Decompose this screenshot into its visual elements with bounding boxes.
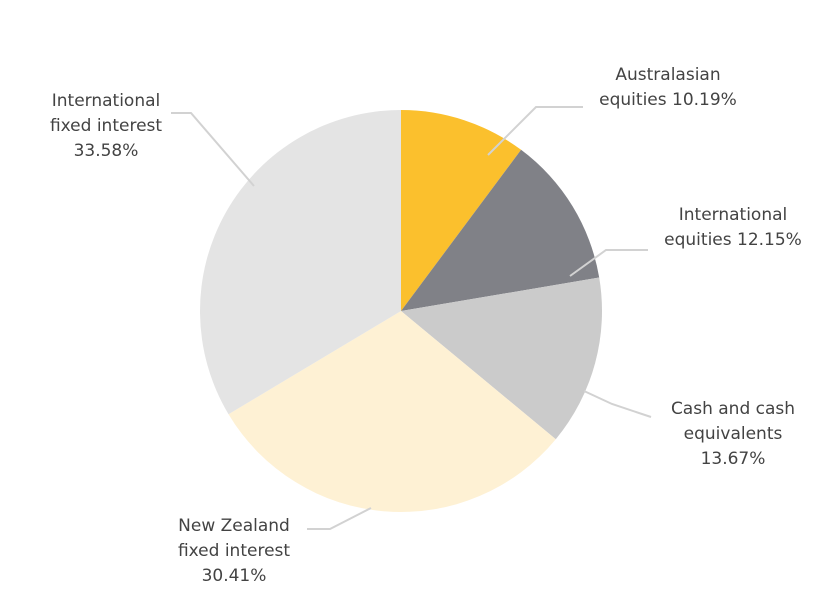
label-line: equities 12.15% [664, 230, 802, 250]
label-line: 33.58% [74, 141, 139, 161]
pie-chart-canvas: Australasian equities 10.19% Internation… [0, 0, 826, 610]
label-line: equivalents [684, 424, 783, 444]
label-line: Australasian [615, 65, 720, 85]
label-line: 30.41% [202, 566, 267, 586]
label-line: International [679, 205, 788, 225]
label-line: equities 10.19% [599, 90, 737, 110]
label-line: International [52, 91, 161, 111]
label-line: Cash and cash [671, 399, 795, 419]
label-line: fixed interest [178, 541, 290, 561]
label-line: New Zealand [178, 516, 290, 536]
label-line: 13.67% [701, 449, 766, 469]
pie-chart-figure: Australasian equities 10.19% Internation… [0, 0, 826, 610]
label-line: fixed interest [50, 116, 162, 136]
pie-slices [200, 110, 602, 512]
